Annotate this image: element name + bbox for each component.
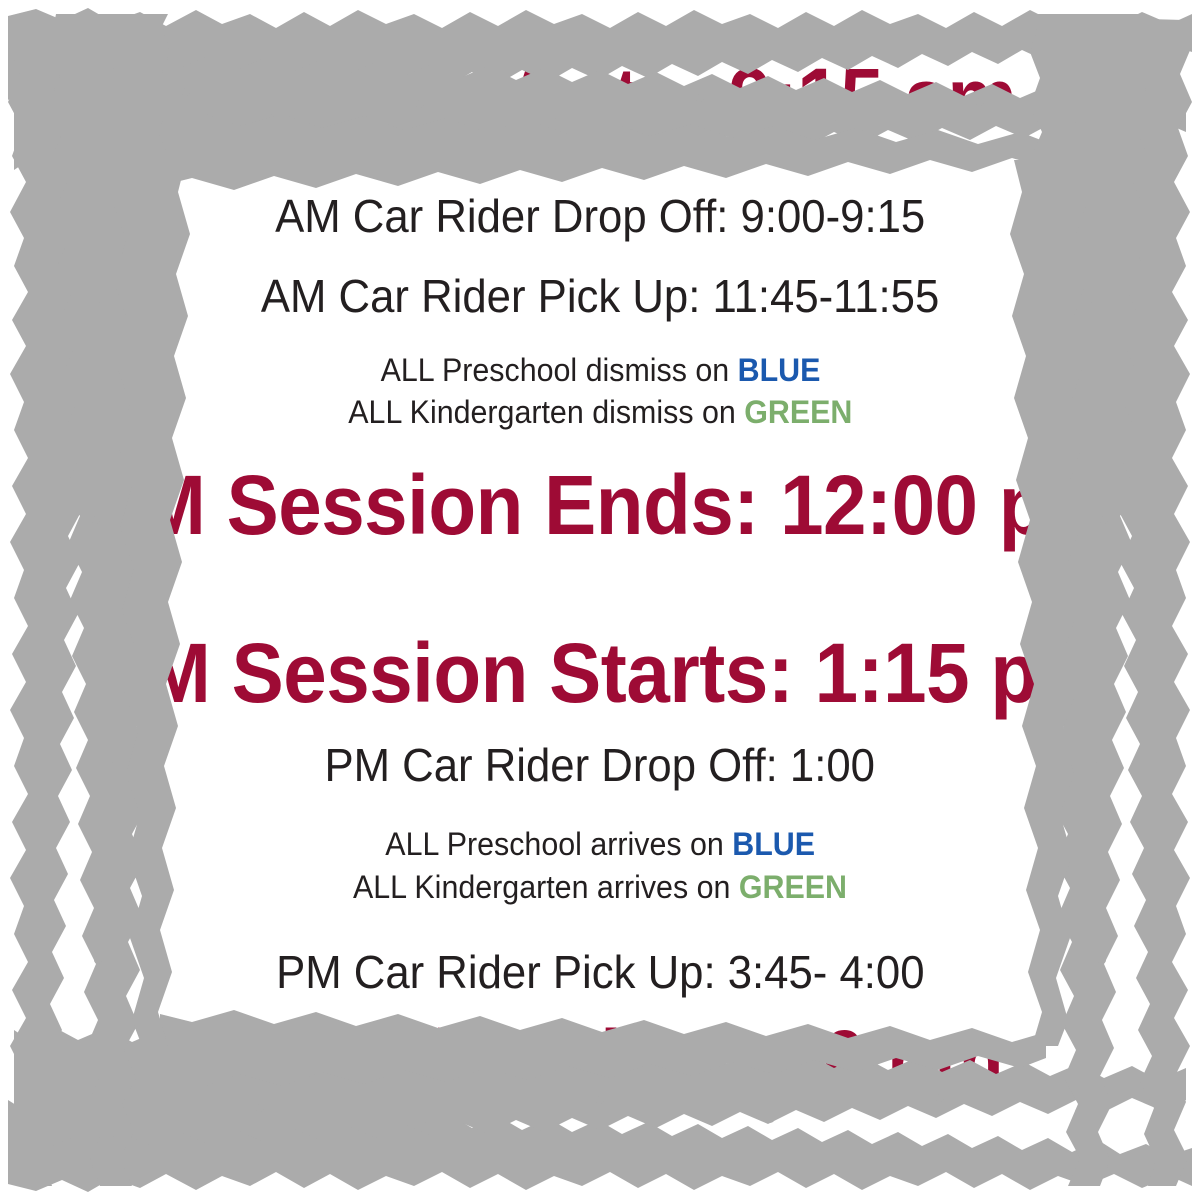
flyer-canvas: School Starts: 9:15 am AM Car Rider Drop… [0,0,1200,1200]
am-pick-up-line: AM Car Rider Pick Up: 11:45-11:55 [261,272,939,320]
pm-preschool-color-keyword: BLUE [732,826,815,862]
pm-kindergarten-note: ALL Kindergarten arrives on GREEN [353,866,847,908]
pm-kindergarten-color-keyword: GREEN [739,869,847,905]
am-session-ends-heading: AM Session Ends: 12:00 pm [85,463,1115,547]
am-kindergarten-color-keyword: GREEN [744,394,852,430]
school-ends-heading: School Ends: 4:00 pm [197,1018,1004,1102]
am-kindergarten-note-text: ALL Kindergarten dismiss on [348,394,744,430]
am-kindergarten-note: ALL Kindergarten dismiss on GREEN [348,391,852,433]
flyer-content: School Starts: 9:15 am AM Car Rider Drop… [0,0,1200,1200]
am-dismissal-notes: ALL Preschool dismiss on BLUE ALL Kinder… [335,349,866,433]
school-starts-heading: School Starts: 9:15 am [184,56,1016,140]
pm-preschool-note-text: ALL Preschool arrives on [385,826,732,862]
pm-kindergarten-note-text: ALL Kindergarten arrives on [353,869,739,905]
pm-pick-up-line: PM Car Rider Pick Up: 3:45- 4:00 [276,948,924,996]
pm-preschool-note: ALL Preschool arrives on BLUE [385,823,815,865]
pm-arrival-notes: ALL Preschool arrives on BLUE ALL Kinder… [340,823,860,907]
am-preschool-color-keyword: BLUE [737,352,820,388]
am-drop-off-line: AM Car Rider Drop Off: 9:00-9:15 [275,192,925,240]
pm-session-starts-heading: PM Session Starts: 1:15 pm [94,631,1106,715]
pm-drop-off-line: PM Car Rider Drop Off: 1:00 [325,741,876,789]
am-preschool-note-text: ALL Preschool dismiss on [380,352,737,388]
am-preschool-note: ALL Preschool dismiss on BLUE [380,349,820,391]
